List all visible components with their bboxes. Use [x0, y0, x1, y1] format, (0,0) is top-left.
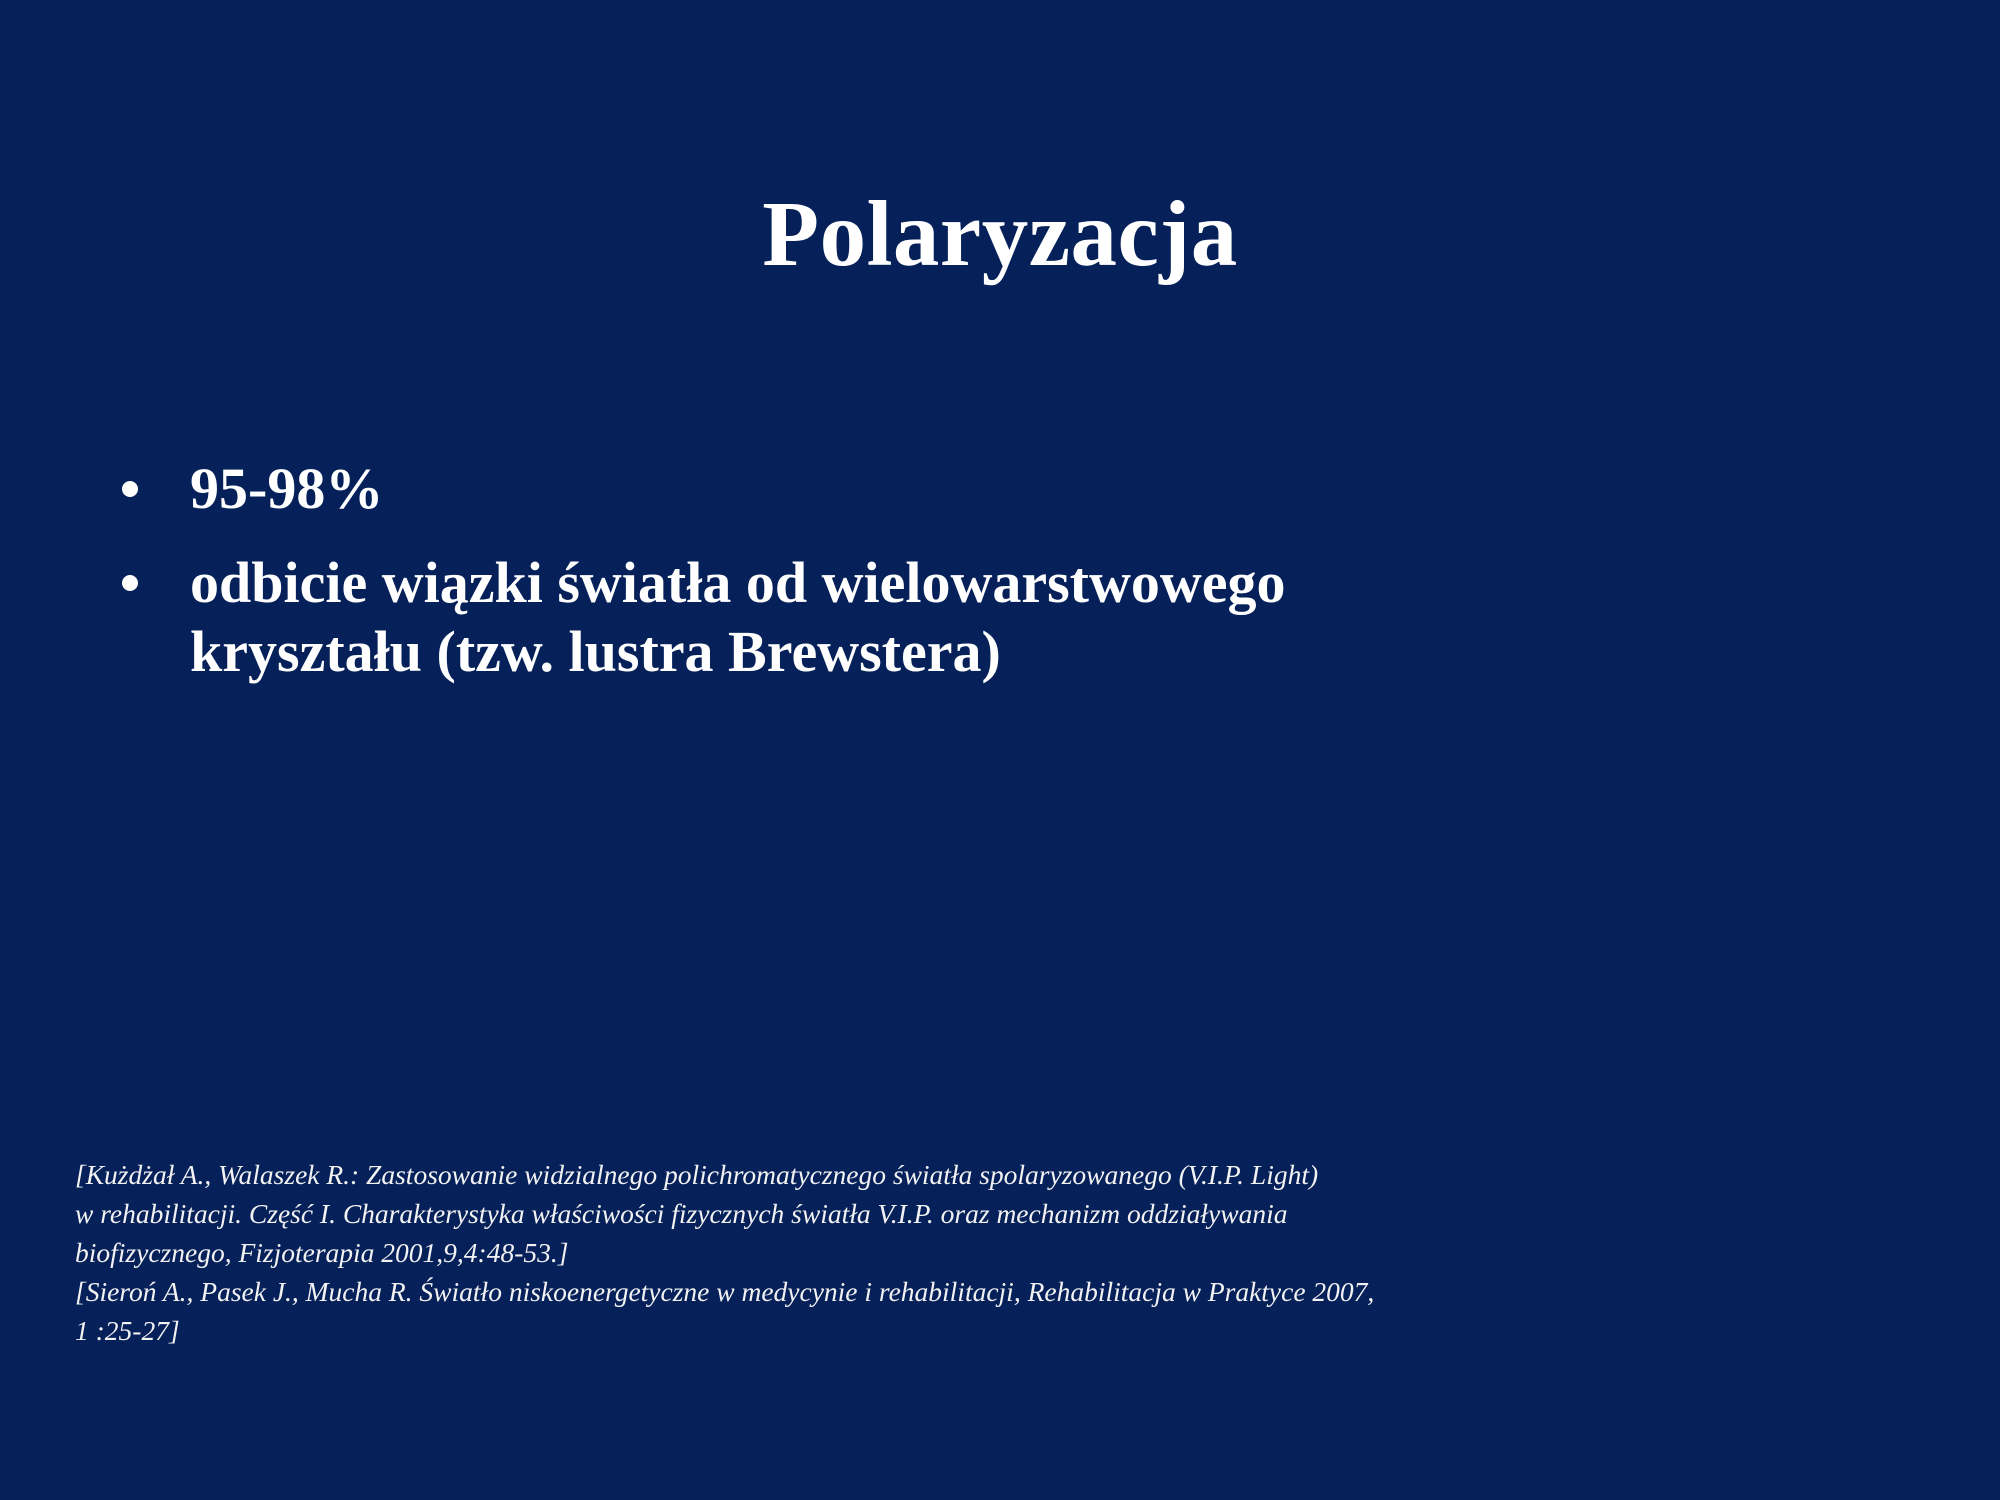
slide-canvas: Polaryzacja 95-98% odbicie wiązki światł… [0, 0, 2000, 1500]
citation-line: [Kużdżał A., Walaszek R.: Zastosowanie w… [75, 1155, 1935, 1194]
citation-line: w rehabilitacji. Część I. Charakterystyk… [75, 1194, 1935, 1233]
bullet-list: 95-98% odbicie wiązki światła od wielowa… [110, 455, 1910, 712]
list-item: 95-98% [110, 455, 1910, 523]
citation-line: biofizycznego, Fizjoterapia 2001,9,4:48-… [75, 1233, 1935, 1272]
citation-block: [Kużdżał A., Walaszek R.: Zastosowanie w… [75, 1155, 1935, 1350]
page-title: Polaryzacja [0, 186, 2000, 284]
list-item: odbicie wiązki światła od wielowarstwowe… [110, 549, 1910, 686]
bullet-text-reflection-line1: odbicie wiązki światła od wielowarstwowe… [190, 549, 1910, 617]
citation-line: [Sieroń A., Pasek J., Mucha R. Światło n… [75, 1272, 1935, 1311]
bullet-dot-icon [122, 575, 138, 591]
bullet-text-reflection-line2: kryształu (tzw. lustra Brewstera) [190, 618, 1910, 686]
bullet-text-percentage: 95-98% [190, 455, 1910, 523]
citation-line: 1 :25-27] [75, 1311, 1935, 1350]
bullet-dot-icon [122, 481, 138, 497]
